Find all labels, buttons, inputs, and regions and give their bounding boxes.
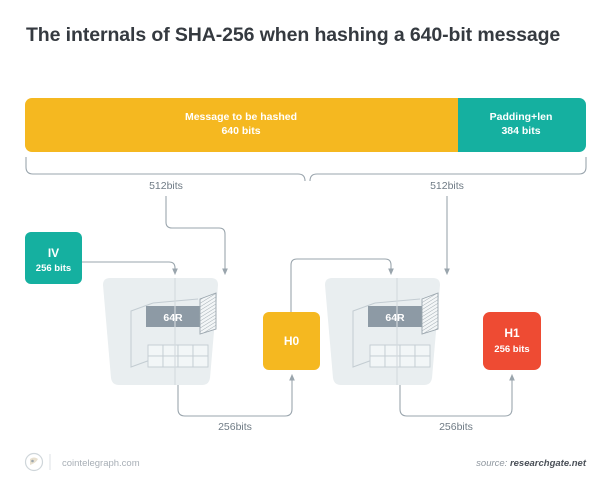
message-bar: Message to be hashed 640 bits Padding+le… [25,98,586,152]
output-path-1-label: 256bits [218,421,252,433]
bracket-block-1 [26,157,305,181]
iv-box-line1: IV [48,246,59,260]
footer-source: source: researchgate.net [476,458,587,469]
message-segment-line2: 640 bits [221,125,260,137]
bracket-block-2-label: 512bits [430,180,464,192]
rounds-wedge-2 [422,293,438,334]
iv-box: IV 256 bits [25,232,82,284]
footer-site: cointelegraph.com [62,458,140,469]
iv-to-block-1-line [82,262,175,272]
state-grid-1 [148,345,208,367]
h1-box-line1: H1 [504,326,520,340]
h0-box: H0 [263,312,320,370]
compression-block-1-rounds-label: 64R [163,312,183,324]
bracket-block-2 [310,157,586,181]
iv-box-line2: 256 bits [36,263,71,274]
compression-block-1: 64R [103,278,218,385]
feed-line-block-1 [166,196,225,272]
h0-box-line1: H0 [284,334,300,348]
sha256-diagram: Message to be hashed 640 bits Padding+le… [0,0,612,498]
state-grid-2 [370,345,430,367]
footer-source-prefix: source: [476,458,510,469]
infographic-page: The internals of SHA-256 when hashing a … [0,0,612,498]
h1-box-shape [483,312,541,370]
compression-block-2-rounds-label: 64R [385,312,405,324]
bracket-block-1-label: 512bits [149,180,183,192]
footer: cointelegraph.com source: researchgate.n… [26,454,587,471]
compression-block-2: 64R [325,278,440,385]
message-segment-line1: Message to be hashed [185,111,297,123]
footer-source-name: researchgate.net [510,458,587,469]
output-path-2-label: 256bits [439,421,473,433]
h1-box-line2: 256 bits [494,344,529,355]
cointelegraph-logo-icon [26,454,43,471]
h1-box: H1 256 bits [483,312,541,370]
rounds-wedge-1 [200,293,216,334]
padding-segment-line1: Padding+len [490,111,553,123]
padding-segment-line2: 384 bits [501,125,540,137]
